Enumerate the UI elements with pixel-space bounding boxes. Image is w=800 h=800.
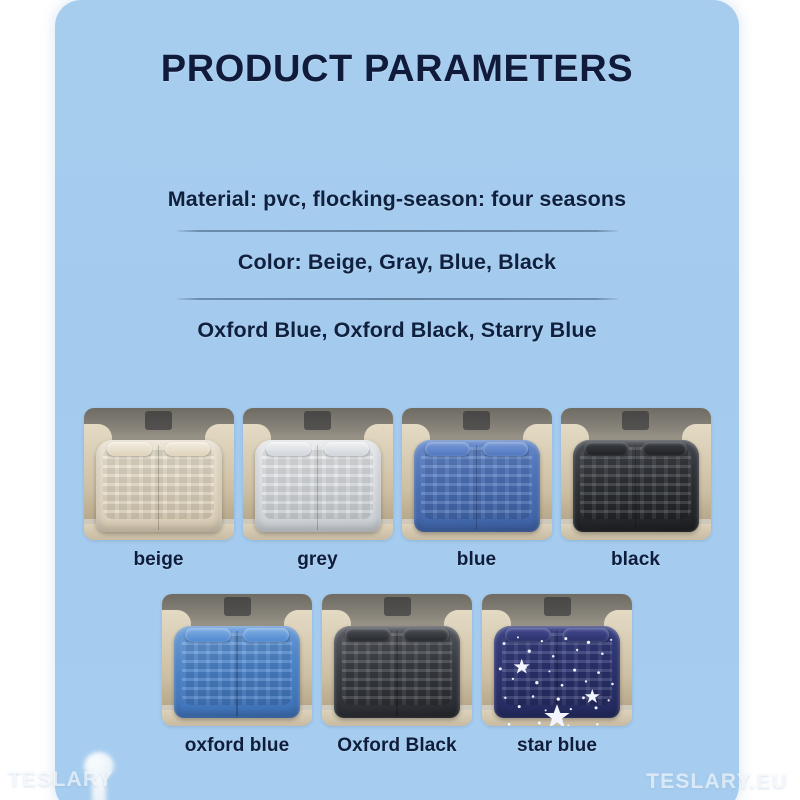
color-label-oxford-black: Oxford Black: [322, 735, 472, 757]
product-photo-beige[interactable]: [84, 408, 234, 540]
color-label-grey: grey: [243, 549, 393, 571]
spec-divider-1: [177, 230, 618, 232]
product-photo-grey[interactable]: [243, 408, 393, 540]
watermark-left: TESLARY: [8, 768, 114, 792]
color-option-oxford-black[interactable]: Oxford Black: [322, 594, 472, 757]
product-photo-star-blue[interactable]: [482, 594, 632, 726]
color-option-grey[interactable]: grey: [243, 408, 393, 571]
color-option-oxford-blue[interactable]: oxford blue: [162, 594, 312, 757]
color-label-star-blue: star blue: [482, 735, 632, 757]
spec-line-extra-colors: Oxford Blue, Oxford Black, Starry Blue: [55, 318, 739, 343]
product-photo-blue[interactable]: [402, 408, 552, 540]
product-parameters-infographic: PRODUCT PARAMETERS Material: pvc, flocki…: [0, 0, 800, 800]
color-option-blue[interactable]: blue: [402, 408, 552, 571]
product-photo-oxford-blue[interactable]: [162, 594, 312, 726]
product-photo-oxford-black[interactable]: [322, 594, 472, 726]
spec-line-color: Color: Beige, Gray, Blue, Black: [55, 250, 739, 275]
color-option-black[interactable]: black: [561, 408, 711, 571]
color-option-star-blue[interactable]: star blue: [482, 594, 632, 757]
info-panel: PRODUCT PARAMETERS Material: pvc, flocki…: [55, 0, 739, 800]
color-gallery-row-2: oxford blue Oxford Black: [55, 594, 739, 757]
color-gallery-row-1: beige grey: [55, 408, 739, 571]
spec-divider-2: [177, 298, 618, 300]
color-label-oxford-blue: oxford blue: [162, 735, 312, 757]
color-option-beige[interactable]: beige: [84, 408, 234, 571]
color-label-beige: beige: [84, 549, 234, 571]
color-label-blue: blue: [402, 549, 552, 571]
color-label-black: black: [561, 549, 711, 571]
product-photo-black[interactable]: [561, 408, 711, 540]
watermark-right: TESLARY.EU: [646, 770, 788, 794]
page-title: PRODUCT PARAMETERS: [55, 48, 739, 91]
spec-line-material: Material: pvc, flocking-season: four sea…: [55, 187, 739, 212]
